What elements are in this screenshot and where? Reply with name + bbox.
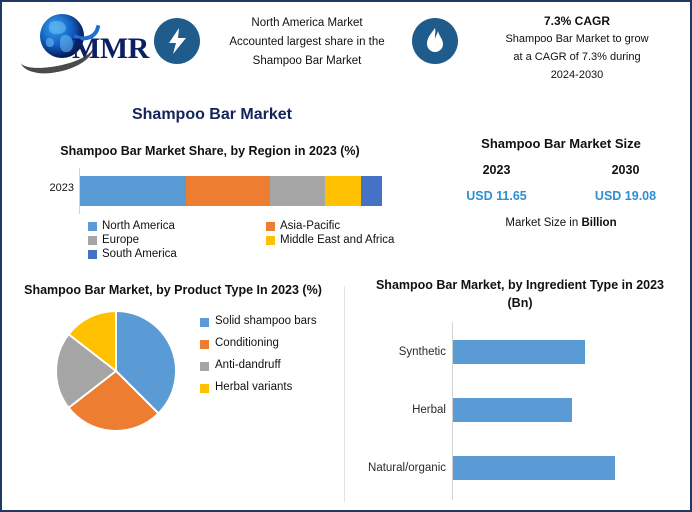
market-size-values: USD 11.65 USD 19.08 bbox=[432, 189, 690, 203]
section-divider bbox=[344, 286, 345, 502]
region-share-title: Shampoo Bar Market Share, by Region in 2… bbox=[27, 142, 393, 160]
region-legend-label: Europe bbox=[102, 234, 139, 246]
cagr-headline: 7.3% CAGR bbox=[464, 12, 690, 30]
product-type-legend-item: Solid shampoo bars bbox=[200, 315, 336, 327]
region-legend-label: South America bbox=[102, 248, 177, 260]
ingredient-row: Natural/organic bbox=[350, 452, 690, 484]
region-segment-4 bbox=[361, 176, 382, 206]
cagr-line-3: 2024-2030 bbox=[464, 66, 690, 84]
ingredient-type-plot: SyntheticHerbalNatural/organic bbox=[350, 322, 690, 500]
region-segment-3 bbox=[325, 176, 361, 206]
region-share-legend: North AmericaAsia-PacificEuropeMiddle Ea… bbox=[88, 220, 398, 260]
ingredient-type-chart: Shampoo Bar Market, by Ingredient Type i… bbox=[350, 276, 690, 500]
product-type-pie bbox=[54, 309, 178, 433]
cagr-line-2: at a CAGR of 7.3% during bbox=[464, 48, 690, 66]
region-legend-label: Middle East and Africa bbox=[280, 234, 394, 246]
lightning-bolt-icon bbox=[154, 18, 200, 64]
market-size-years: 2023 2030 bbox=[432, 163, 690, 177]
market-size-note-prefix: Market Size in bbox=[505, 217, 581, 229]
region-legend-label: Asia-Pacific bbox=[280, 220, 340, 232]
na-line-3: Shampoo Bar Market bbox=[208, 52, 406, 71]
north-america-highlight: North America Market Accounted largest s… bbox=[208, 14, 406, 71]
region-segment-0 bbox=[80, 176, 186, 206]
infographic-page: MMR North America Market Accounted large… bbox=[0, 0, 692, 512]
region-legend-item: Asia-Pacific bbox=[266, 220, 398, 232]
ingredient-bar bbox=[453, 340, 585, 364]
legend-swatch-icon bbox=[200, 362, 209, 371]
header-band: MMR North America Market Accounted large… bbox=[2, 2, 690, 90]
ingredient-row: Herbal bbox=[350, 394, 690, 426]
legend-swatch-icon bbox=[200, 340, 209, 349]
region-legend-item: North America bbox=[88, 220, 266, 232]
market-size-value-2023: USD 11.65 bbox=[432, 189, 561, 203]
market-size-note-unit: Billion bbox=[581, 217, 616, 229]
product-type-legend-item: Conditioning bbox=[200, 337, 336, 349]
product-type-title: Shampoo Bar Market, by Product Type In 2… bbox=[23, 282, 323, 299]
page-title: Shampoo Bar Market bbox=[2, 106, 422, 124]
ingredient-label: Natural/organic bbox=[350, 452, 446, 484]
mmr-logo: MMR bbox=[14, 8, 132, 70]
region-share-plot: 2023 bbox=[10, 168, 410, 214]
ingredient-bar bbox=[453, 398, 572, 422]
region-legend-item: Middle East and Africa bbox=[266, 234, 398, 246]
market-size-panel: Shampoo Bar Market Size 2023 2030 USD 11… bbox=[432, 136, 690, 229]
legend-swatch-icon bbox=[200, 318, 209, 327]
ingredient-label: Herbal bbox=[350, 394, 446, 426]
na-line-2: Accounted largest share in the bbox=[208, 33, 406, 52]
region-legend-label: North America bbox=[102, 220, 175, 232]
market-size-value-2030: USD 19.08 bbox=[561, 189, 690, 203]
product-type-legend-item: Anti-dandruff bbox=[200, 359, 336, 371]
cagr-line-1: Shampoo Bar Market to grow bbox=[464, 30, 690, 48]
product-type-legend-item: Herbal variants bbox=[200, 381, 336, 393]
product-type-legend-label: Solid shampoo bars bbox=[215, 315, 317, 327]
legend-swatch-icon bbox=[200, 384, 209, 393]
product-type-legend: Solid shampoo barsConditioningAnti-dandr… bbox=[200, 315, 336, 403]
market-size-note: Market Size in Billion bbox=[432, 217, 690, 229]
na-line-1: North America Market bbox=[208, 14, 406, 33]
cagr-highlight: 7.3% CAGR Shampoo Bar Market to grow at … bbox=[464, 12, 690, 84]
ingredient-type-title: Shampoo Bar Market, by Ingredient Type i… bbox=[370, 276, 670, 312]
region-share-stack bbox=[80, 176, 382, 206]
legend-swatch-icon bbox=[88, 236, 97, 245]
product-type-chart: Shampoo Bar Market, by Product Type In 2… bbox=[10, 282, 336, 459]
region-share-category-label: 2023 bbox=[20, 182, 74, 194]
ingredient-row: Synthetic bbox=[350, 336, 690, 368]
flame-icon bbox=[412, 18, 458, 64]
product-type-legend-label: Anti-dandruff bbox=[215, 359, 281, 371]
legend-swatch-icon bbox=[88, 222, 97, 231]
region-legend-item: Europe bbox=[88, 234, 266, 246]
region-share-chart: Shampoo Bar Market Share, by Region in 2… bbox=[10, 142, 410, 260]
product-type-legend-label: Conditioning bbox=[215, 337, 279, 349]
market-size-year-2023: 2023 bbox=[432, 163, 561, 177]
ingredient-label: Synthetic bbox=[350, 336, 446, 368]
product-type-legend-label: Herbal variants bbox=[215, 381, 292, 393]
region-legend-item: South America bbox=[88, 248, 266, 260]
legend-swatch-icon bbox=[266, 236, 275, 245]
market-size-title: Shampoo Bar Market Size bbox=[432, 136, 690, 151]
legend-swatch-icon bbox=[88, 250, 97, 259]
market-size-year-2030: 2030 bbox=[561, 163, 690, 177]
region-segment-2 bbox=[270, 176, 324, 206]
ingredient-bar bbox=[453, 456, 615, 480]
legend-swatch-icon bbox=[266, 222, 275, 231]
region-segment-1 bbox=[186, 176, 271, 206]
logo-text: MMR bbox=[72, 32, 149, 66]
